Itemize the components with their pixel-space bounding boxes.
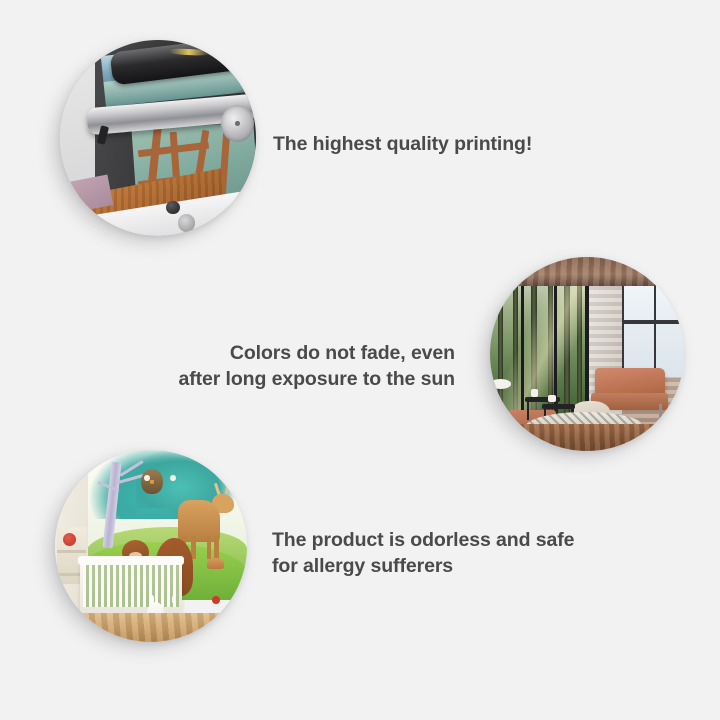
nursery-wooden-floor [55, 613, 247, 642]
nursery-scene [55, 450, 247, 642]
roller-end-cap [221, 105, 254, 142]
shelf-toy [63, 533, 76, 546]
printing-machine-photo [60, 40, 256, 236]
floor-lamp [490, 379, 511, 389]
nursery-mural-photo [55, 450, 247, 642]
shelf-board [57, 550, 86, 553]
promo-feature-page: The highest quality printing! Colors do … [0, 0, 720, 720]
coffee-table [542, 404, 575, 409]
crib-rail [78, 556, 184, 566]
machine-knob [166, 201, 180, 215]
forest-mural-room-scene [490, 257, 684, 451]
mural-owl [141, 469, 162, 494]
caption-quality-printing: The highest quality printing! [273, 131, 532, 157]
wooden-floor [490, 424, 684, 451]
cup [531, 389, 539, 397]
sofa-leg [659, 404, 662, 418]
caption-colors-do-not-fade: Colors do not fade, even after long expo… [95, 340, 455, 392]
machine-foot [178, 214, 196, 232]
mural-deer-leg [207, 536, 212, 559]
printing-machine-scene [60, 40, 256, 236]
sunbeam [498, 276, 587, 412]
mural-deer-leg [214, 536, 219, 559]
wooden-ceiling [490, 257, 684, 286]
window-frame-bar [622, 320, 684, 324]
roller-highlight [169, 48, 209, 56]
table-leg [527, 401, 529, 420]
forest-mural-living-room-photo [490, 257, 684, 451]
baby-crib [80, 558, 182, 619]
caption-odorless-and-safe: The product is odorless and safe for all… [272, 527, 574, 579]
mural-berry [212, 596, 220, 604]
cup [548, 395, 556, 403]
mural-mushroom [207, 558, 224, 570]
